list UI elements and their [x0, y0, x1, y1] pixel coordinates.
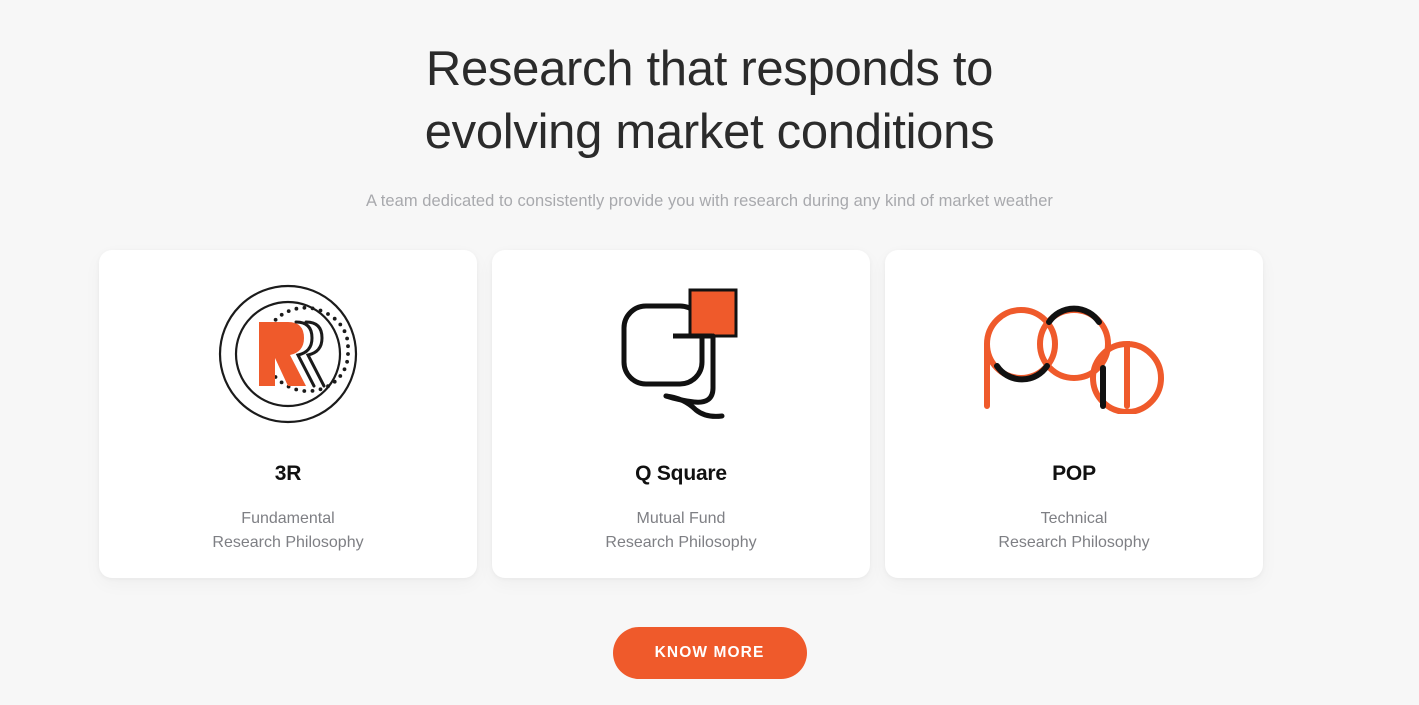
card-subtitle-line-1: Technical	[1041, 510, 1108, 527]
q-square-logo-slot	[616, 274, 746, 434]
card-subtitle: Fundamental Research Philosophy	[212, 507, 363, 554]
philosophy-card-q-square[interactable]: Q Square Mutual Fund Research Philosophy	[492, 250, 870, 578]
3r-badge-icon	[218, 284, 358, 424]
orange-square	[690, 290, 736, 336]
card-subtitle: Technical Research Philosophy	[998, 507, 1149, 554]
page-subtitle: A team dedicated to consistently provide…	[0, 190, 1419, 212]
philosophy-card-list: 3R Fundamental Research Philosophy Q Squ…	[99, 250, 1263, 578]
philosophy-card-pop[interactable]: POP Technical Research Philosophy	[885, 250, 1263, 578]
card-subtitle-line-2: Research Philosophy	[998, 531, 1149, 555]
pop-accent-arc-lower-left	[997, 366, 1047, 379]
card-subtitle-line-1: Mutual Fund	[637, 510, 726, 527]
card-subtitle: Mutual Fund Research Philosophy	[605, 507, 756, 554]
page-title-line-1: Research that responds to	[300, 38, 1120, 101]
cta-row: KNOW MORE	[0, 627, 1419, 679]
card-subtitle-line-2: Research Philosophy	[605, 531, 756, 555]
card-title: POP	[1052, 462, 1096, 486]
know-more-button[interactable]: KNOW MORE	[613, 627, 807, 679]
card-title: Q Square	[635, 462, 727, 486]
card-subtitle-line-1: Fundamental	[241, 510, 334, 527]
philosophy-card-3r[interactable]: 3R Fundamental Research Philosophy	[99, 250, 477, 578]
hero-heading-block: Research that responds to evolving marke…	[0, 0, 1419, 212]
page-title: Research that responds to evolving marke…	[300, 38, 1120, 164]
q-square-icon	[616, 284, 746, 424]
3r-badge-logo-slot	[218, 274, 358, 434]
q-tail-lower	[666, 396, 722, 416]
page-title-line-2: evolving market conditions	[300, 101, 1120, 164]
research-section: Research that responds to evolving marke…	[0, 0, 1419, 705]
pop-logo-slot	[979, 274, 1169, 434]
pop-accent-arc-upper-middle	[1049, 309, 1099, 322]
card-subtitle-line-2: Research Philosophy	[212, 531, 363, 555]
card-title: 3R	[275, 462, 301, 486]
q-tail-upper	[666, 336, 713, 402]
pop-icon	[979, 294, 1169, 414]
